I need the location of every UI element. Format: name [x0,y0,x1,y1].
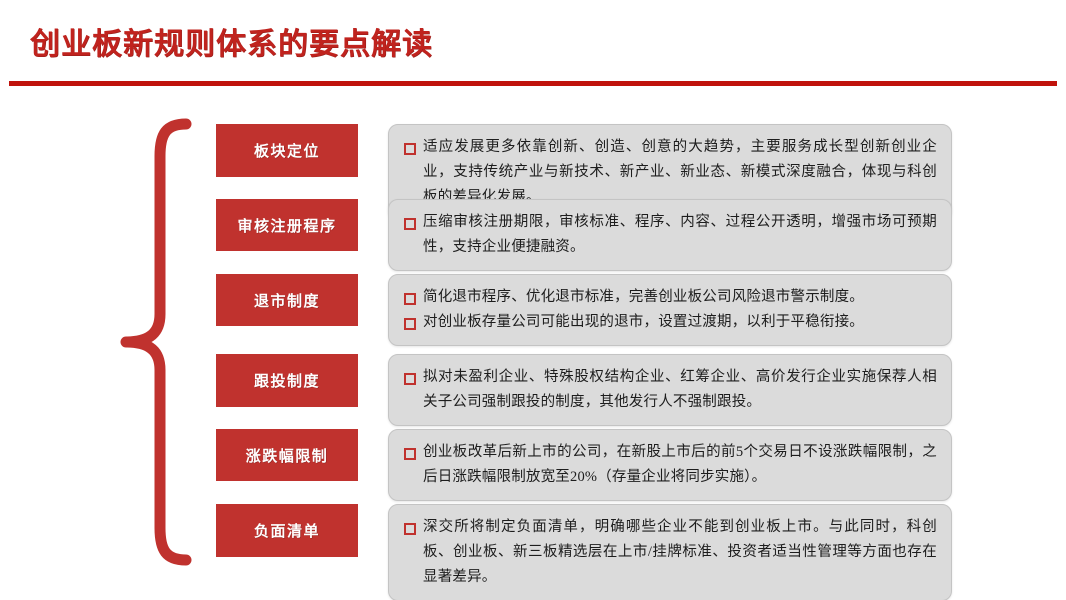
square-bullet-icon [403,365,419,390]
bullet-item: 对创业板存量公司可能出现的退市，设置过渡期，以利于平稳衔接。 [403,310,937,335]
category-label-chip[interactable]: 板块定位 [216,124,358,177]
category-label-chip[interactable]: 审核注册程序 [216,199,358,251]
square-bullet-icon [403,515,419,540]
bullet-text: 深交所将制定负面清单，明确哪些企业不能到创业板上市。与此同时，科创板、创业板、新… [423,515,937,590]
category-label-text: 退市制度 [254,290,320,311]
category-label-text: 涨跌幅限制 [246,445,329,466]
diagram-row: 负面清单 深交所将制定负面清单，明确哪些企业不能到创业板上市。与此同时，科创板、… [216,504,952,600]
bullet-text: 压缩审核注册期限，审核标准、程序、内容、过程公开透明，增强市场可预期性，支持企业… [423,210,937,260]
content-panel: 简化退市程序、优化退市标准，完善创业板公司风险退市警示制度。 对创业板存量公司可… [388,274,952,346]
content-panel: 创业板改革后新上市的公司，在新股上市后的前5个交易日不设涨跌幅限制，之后日涨跌幅… [388,429,952,501]
content-panel: 压缩审核注册期限，审核标准、程序、内容、过程公开透明，增强市场可预期性，支持企业… [388,199,952,271]
category-label-chip[interactable]: 负面清单 [216,504,358,557]
bullet-text: 拟对未盈利企业、特殊股权结构企业、红筹企业、高价发行企业实施保荐人相关子公司强制… [423,365,937,415]
slide-canvas: 创业板新规则体系的要点解读 板块定位 适应发展更多依靠创新、创造、创意的大趋势，… [0,0,1066,600]
bullet-item: 深交所将制定负面清单，明确哪些企业不能到创业板上市。与此同时，科创板、创业板、新… [403,515,937,590]
category-label-text: 负面清单 [254,520,320,541]
bullet-item: 简化退市程序、优化退市标准，完善创业板公司风险退市警示制度。 [403,285,937,310]
square-bullet-icon [403,310,419,335]
square-bullet-icon [403,440,419,465]
square-bullet-icon [403,285,419,310]
content-panel: 拟对未盈利企业、特殊股权结构企业、红筹企业、高价发行企业实施保荐人相关子公司强制… [388,354,952,426]
category-label-chip[interactable]: 涨跌幅限制 [216,429,358,481]
diagram-row: 审核注册程序 压缩审核注册期限，审核标准、程序、内容、过程公开透明，增强市场可预… [216,199,952,271]
diagram-rows: 板块定位 适应发展更多依靠创新、创造、创意的大趋势，主要服务成长型创新创业企业，… [0,0,1066,600]
diagram-row: 退市制度 简化退市程序、优化退市标准，完善创业板公司风险退市警示制度。 对创业板… [216,274,952,346]
bullet-text: 创业板改革后新上市的公司，在新股上市后的前5个交易日不设涨跌幅限制，之后日涨跌幅… [423,440,937,490]
category-label-text: 跟投制度 [254,370,320,391]
bullet-item: 拟对未盈利企业、特殊股权结构企业、红筹企业、高价发行企业实施保荐人相关子公司强制… [403,365,937,415]
category-label-text: 审核注册程序 [237,215,336,236]
category-label-text: 板块定位 [254,140,320,161]
bullet-text: 对创业板存量公司可能出现的退市，设置过渡期，以利于平稳衔接。 [423,310,937,335]
diagram-row: 涨跌幅限制 创业板改革后新上市的公司，在新股上市后的前5个交易日不设涨跌幅限制，… [216,429,952,501]
category-label-chip[interactable]: 跟投制度 [216,354,358,407]
square-bullet-icon [403,210,419,235]
bullet-text: 简化退市程序、优化退市标准，完善创业板公司风险退市警示制度。 [423,285,937,310]
square-bullet-icon [403,135,419,160]
bullet-item: 压缩审核注册期限，审核标准、程序、内容、过程公开透明，增强市场可预期性，支持企业… [403,210,937,260]
content-panel: 深交所将制定负面清单，明确哪些企业不能到创业板上市。与此同时，科创板、创业板、新… [388,504,952,600]
diagram-row: 跟投制度 拟对未盈利企业、特殊股权结构企业、红筹企业、高价发行企业实施保荐人相关… [216,354,952,426]
bullet-item: 创业板改革后新上市的公司，在新股上市后的前5个交易日不设涨跌幅限制，之后日涨跌幅… [403,440,937,490]
category-label-chip[interactable]: 退市制度 [216,274,358,326]
